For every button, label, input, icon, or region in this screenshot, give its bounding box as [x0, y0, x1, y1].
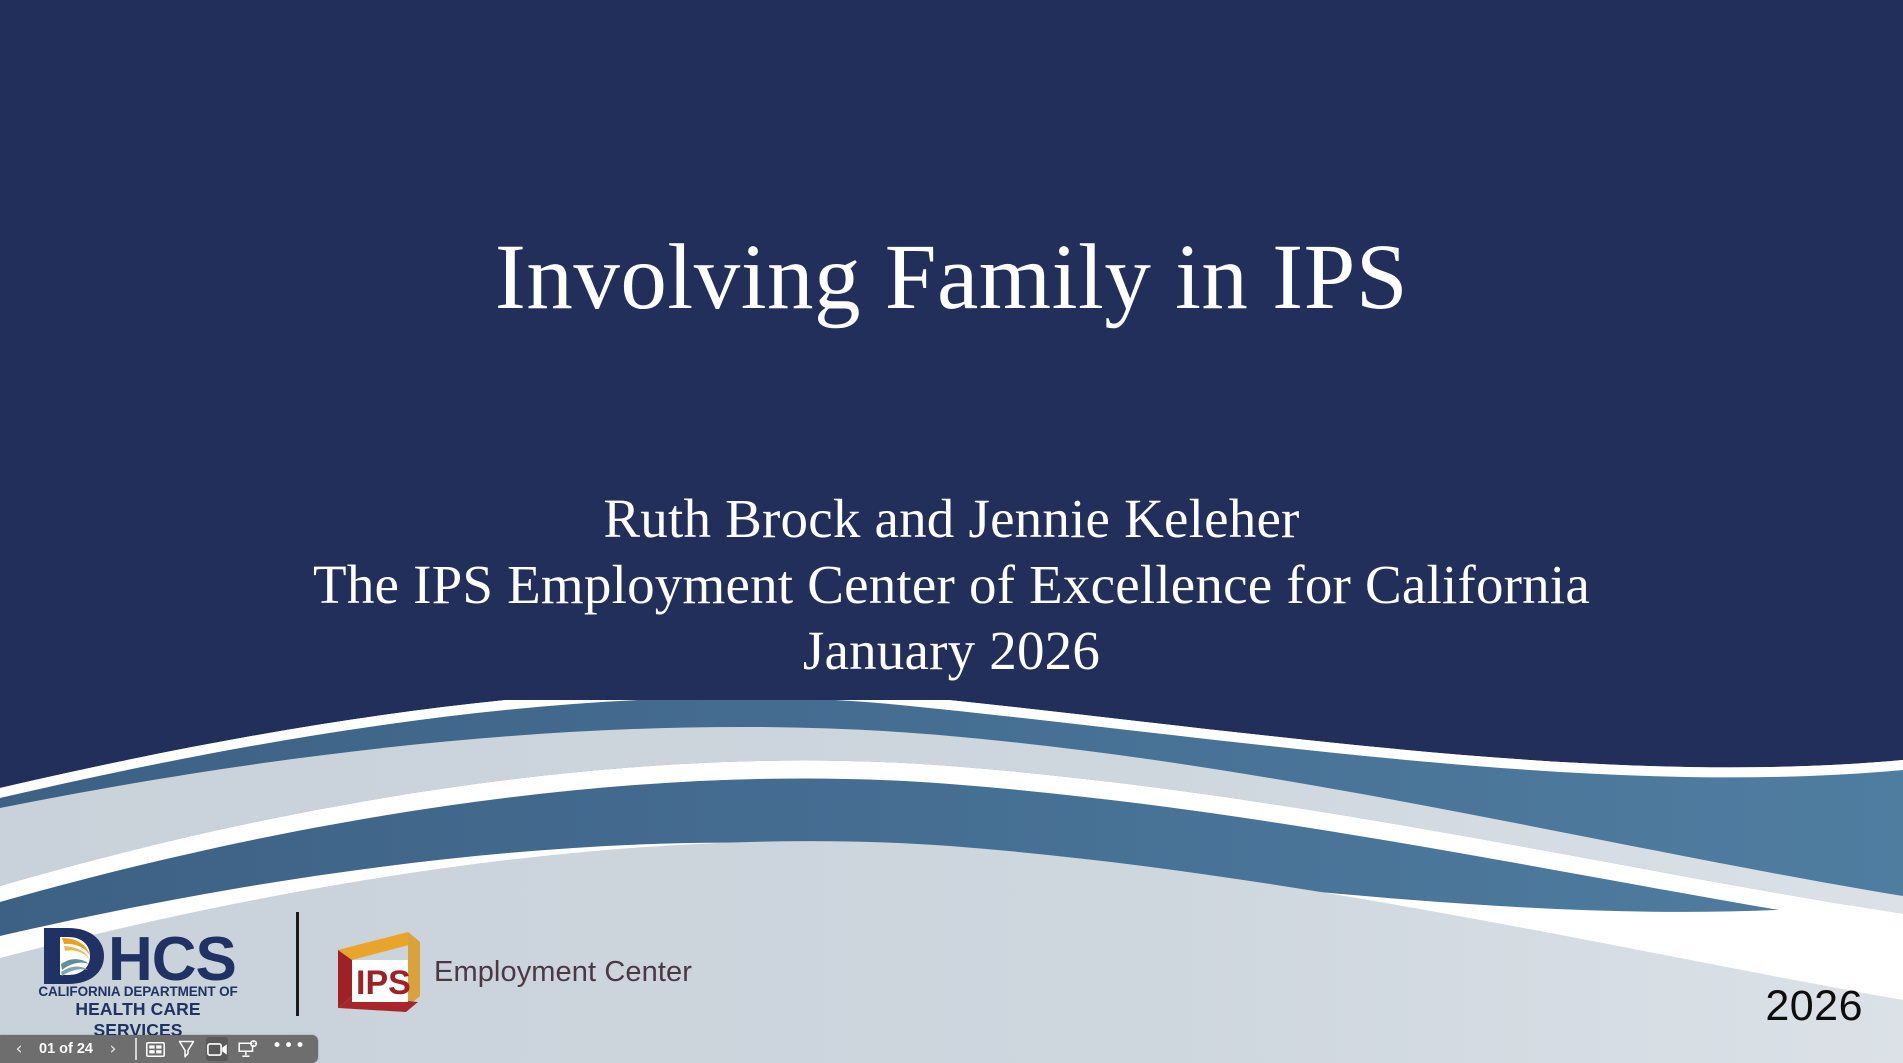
dhcs-tagline-line1: CALIFORNIA DEPARTMENT OF [38, 984, 238, 999]
slide-notes-icon [146, 1042, 165, 1057]
svg-text:IPS: IPS [356, 964, 411, 1002]
ips-logo: IPS Employment Center [330, 930, 620, 1014]
previous-slide-button[interactable]: ‹ [4, 1037, 34, 1061]
svg-text:HCS: HCS [108, 925, 236, 988]
page-title: Involving Family in IPS [0, 228, 1903, 328]
more-options-button[interactable]: ••• [268, 1038, 311, 1060]
camera-button[interactable] [206, 1037, 228, 1061]
subtitle-block: Ruth Brock and Jennie Keleher The IPS Em… [0, 486, 1903, 684]
dhcs-logo: HCS CALIFORNIA DEPARTMENT OF HEALTH CARE… [38, 924, 238, 1016]
slide-notes-button[interactable] [144, 1037, 166, 1061]
presentation-slide: Involving Family in IPS Ruth Brock and J… [0, 0, 1903, 1063]
logo-divider [296, 912, 299, 1016]
camera-icon [207, 1042, 228, 1057]
footer-year: 2026 [1765, 982, 1863, 1031]
next-slide-button[interactable]: › [98, 1037, 128, 1061]
ips-cube-icon: IPS [330, 930, 426, 1014]
dhcs-wordmark-icon: HCS [38, 924, 238, 988]
subtitle-presenters: Ruth Brock and Jennie Keleher [0, 486, 1903, 552]
toolbar-separator [135, 1038, 137, 1060]
presenter-toolbar[interactable]: ‹ 01 of 24 › [0, 1035, 318, 1063]
stop-presenting-icon [238, 1040, 258, 1059]
slide-counter: 01 of 24 [34, 1041, 98, 1057]
ink-pen-button[interactable] [175, 1037, 197, 1061]
subtitle-organization: The IPS Employment Center of Excellence … [0, 552, 1903, 618]
stop-presenting-button[interactable] [237, 1037, 259, 1061]
ips-logo-caption: Employment Center [434, 956, 692, 989]
ink-pen-icon [178, 1040, 195, 1058]
subtitle-date: January 2026 [0, 618, 1903, 684]
